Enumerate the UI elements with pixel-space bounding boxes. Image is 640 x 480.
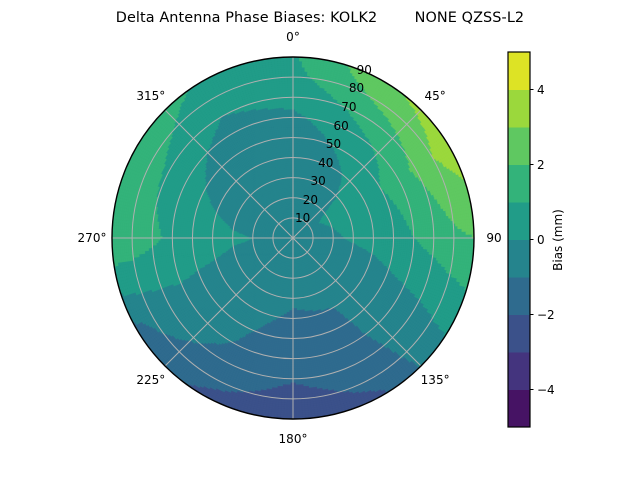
r-tick-label-50: 50 bbox=[326, 137, 341, 151]
r-tick-label-70: 70 bbox=[341, 100, 356, 114]
labels-layer: 0°45°90135°180°225°270°315°1020304050607… bbox=[0, 0, 640, 480]
r-tick-label-10: 10 bbox=[295, 211, 310, 225]
theta-tick-label-180: 180° bbox=[279, 432, 308, 446]
theta-tick-label-225: 225° bbox=[136, 373, 165, 387]
r-tick-label-40: 40 bbox=[318, 156, 333, 170]
colorbar-tick-0: 0 bbox=[537, 233, 545, 247]
r-tick-label-30: 30 bbox=[310, 174, 325, 188]
r-tick-label-80: 80 bbox=[349, 81, 364, 95]
r-tick-label-60: 60 bbox=[334, 119, 349, 133]
polar-contour-figure: Delta Antenna Phase Biases: KOLK2 NONE Q… bbox=[0, 0, 640, 480]
theta-tick-label-315: 315° bbox=[136, 89, 165, 103]
colorbar-tick-2: 2 bbox=[537, 158, 545, 172]
theta-tick-label-90: 90 bbox=[486, 231, 501, 245]
colorbar-tick-4: 4 bbox=[537, 83, 545, 97]
colorbar-tick-minus2: −2 bbox=[537, 308, 555, 322]
theta-tick-label-270: 270° bbox=[78, 231, 107, 245]
r-tick-label-20: 20 bbox=[303, 193, 318, 207]
theta-tick-label-0: 0° bbox=[286, 30, 300, 44]
theta-tick-label-45: 45° bbox=[424, 89, 445, 103]
colorbar-tick-minus4: −4 bbox=[537, 383, 555, 397]
r-tick-label-90: 90 bbox=[357, 63, 372, 77]
theta-tick-label-135: 135° bbox=[421, 373, 450, 387]
colorbar-axis-title: Bias (mm) bbox=[551, 209, 565, 271]
